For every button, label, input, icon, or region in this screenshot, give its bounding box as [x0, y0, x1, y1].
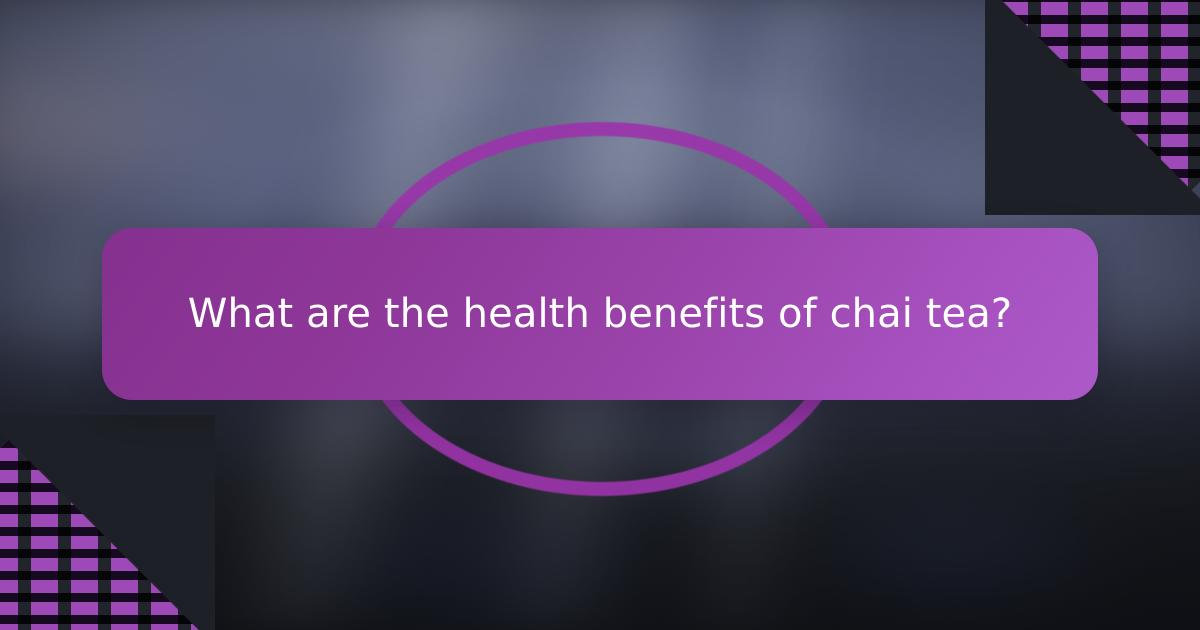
corner-wedge-mask	[985, 0, 1200, 215]
corner-wedge-mask	[0, 415, 215, 630]
corner-ornament-bottom-left	[0, 415, 215, 630]
question-title: What are the health benefits of chai tea…	[188, 290, 1012, 338]
social-card-image: What are the health benefits of chai tea…	[0, 0, 1200, 630]
question-card: What are the health benefits of chai tea…	[102, 228, 1098, 400]
corner-ornament-top-right	[985, 0, 1200, 215]
